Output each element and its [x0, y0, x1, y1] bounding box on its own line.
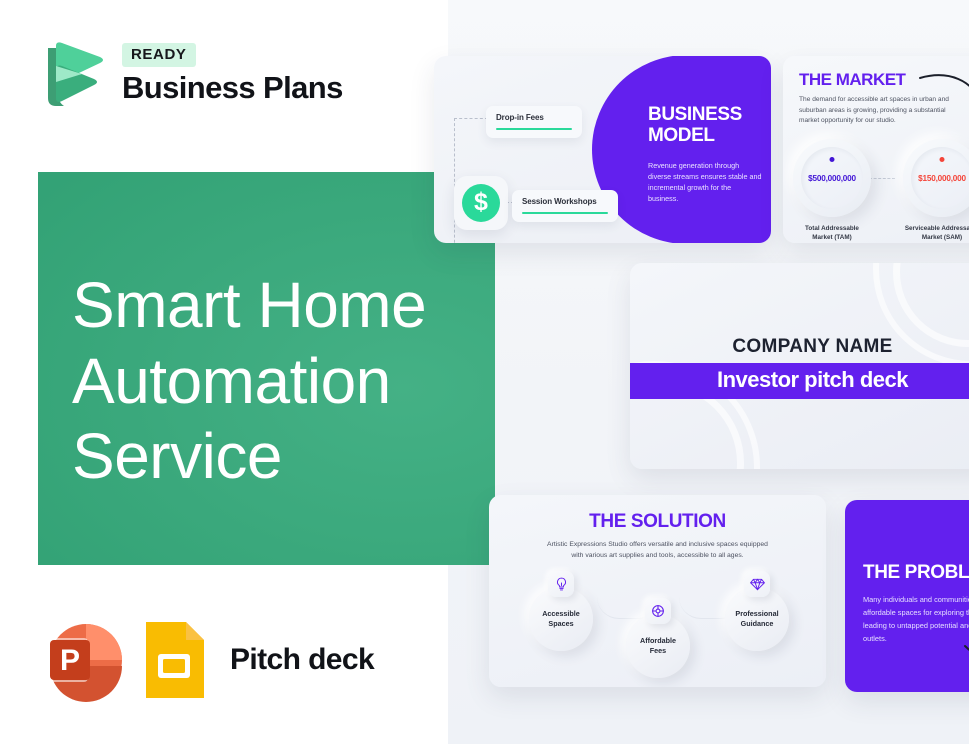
market-title: THE MARKET	[799, 70, 905, 90]
company-name: COMPANY NAME	[630, 336, 969, 358]
revenue-chip-label: Drop-in Fees	[496, 113, 572, 122]
target-circle-icon	[645, 598, 671, 624]
format-row: P Pitch deck	[40, 618, 374, 702]
dollar-circle-icon: $	[454, 176, 508, 230]
market-description: The demand for accessible art spaces in …	[799, 95, 954, 127]
metric-dot	[940, 157, 945, 162]
problem-description: Many individuals and communities lack ac…	[863, 594, 969, 646]
slide-company-name[interactable]: COMPANY NAME Investor pitch deck	[630, 263, 969, 469]
solution-node-label: Professional Guidance	[735, 609, 778, 629]
slide-business-model[interactable]: $ Drop-in Fees Session Workshops Commiss…	[434, 56, 771, 243]
problem-title: THE PROBLEM	[863, 562, 969, 584]
hero-title: Smart Home Automation Service	[72, 268, 492, 495]
brand-name: Business Plans	[122, 70, 343, 106]
business-model-body: Revenue generation through diverse strea…	[648, 160, 762, 205]
connector-vertical	[454, 118, 455, 243]
metric-dot	[830, 157, 835, 162]
market-metric-tam: $500,000,000 Total Addressable Market (T…	[789, 139, 875, 242]
solution-node-label: Accessible Spaces	[542, 609, 580, 629]
revenue-chip[interactable]: Session Workshops	[512, 190, 618, 222]
ready-badge: READY	[122, 43, 196, 67]
solution-node-label: Affordable Fees	[640, 636, 676, 656]
diamond-icon	[744, 571, 770, 597]
business-model-heading: BUSINESS MODEL	[648, 104, 768, 147]
lightbulb-icon	[548, 571, 574, 597]
svg-text:P: P	[60, 644, 80, 677]
poster-canvas: READY Business Plans Smart Home Automati…	[0, 0, 969, 744]
market-metric-sam: $150,000,000 Serviceable Addressable Mar…	[899, 139, 969, 242]
slide-the-problem[interactable]: THE PROBLEM Many individuals and communi…	[845, 500, 969, 692]
brand-logo[interactable]: READY Business Plans	[38, 36, 343, 110]
chip-underline	[496, 128, 572, 130]
market-metric-value: $500,000,000	[808, 174, 856, 183]
market-metric-caption: Serviceable Addressable Market (SAM)	[899, 224, 969, 242]
solution-node-professional-guidance[interactable]: Professional Guidance	[725, 587, 789, 651]
format-label: Pitch deck	[230, 643, 374, 677]
brand-text-block: READY Business Plans	[122, 41, 343, 106]
market-metric-caption: Total Addressable Market (TAM)	[789, 224, 875, 242]
slide-the-market[interactable]: THE MARKET The demand for accessible art…	[783, 56, 969, 243]
slide-the-solution[interactable]: THE SOLUTION Artistic Expressions Studio…	[489, 495, 826, 687]
revenue-chip-label: Session Workshops	[522, 197, 608, 206]
chip-underline	[522, 212, 608, 214]
play-triangle-logo-icon	[38, 36, 110, 110]
business-model-purple-blob	[592, 56, 771, 243]
google-slides-file-icon[interactable]	[140, 618, 208, 702]
solution-node-accessible-spaces[interactable]: Accessible Spaces	[529, 587, 593, 651]
problem-curve-decor-icon	[963, 640, 969, 670]
solution-node-affordable-fees[interactable]: Affordable Fees	[626, 614, 690, 678]
revenue-chip[interactable]: Drop-in Fees	[486, 106, 582, 138]
powerpoint-file-icon[interactable]: P	[40, 618, 124, 702]
solution-title: THE SOLUTION	[489, 511, 826, 533]
company-subtitle: Investor pitch deck	[630, 367, 969, 393]
connector-top	[454, 118, 488, 119]
solution-description: Artistic Expressions Studio offers versa…	[489, 539, 826, 562]
market-metric-value: $150,000,000	[918, 174, 966, 183]
